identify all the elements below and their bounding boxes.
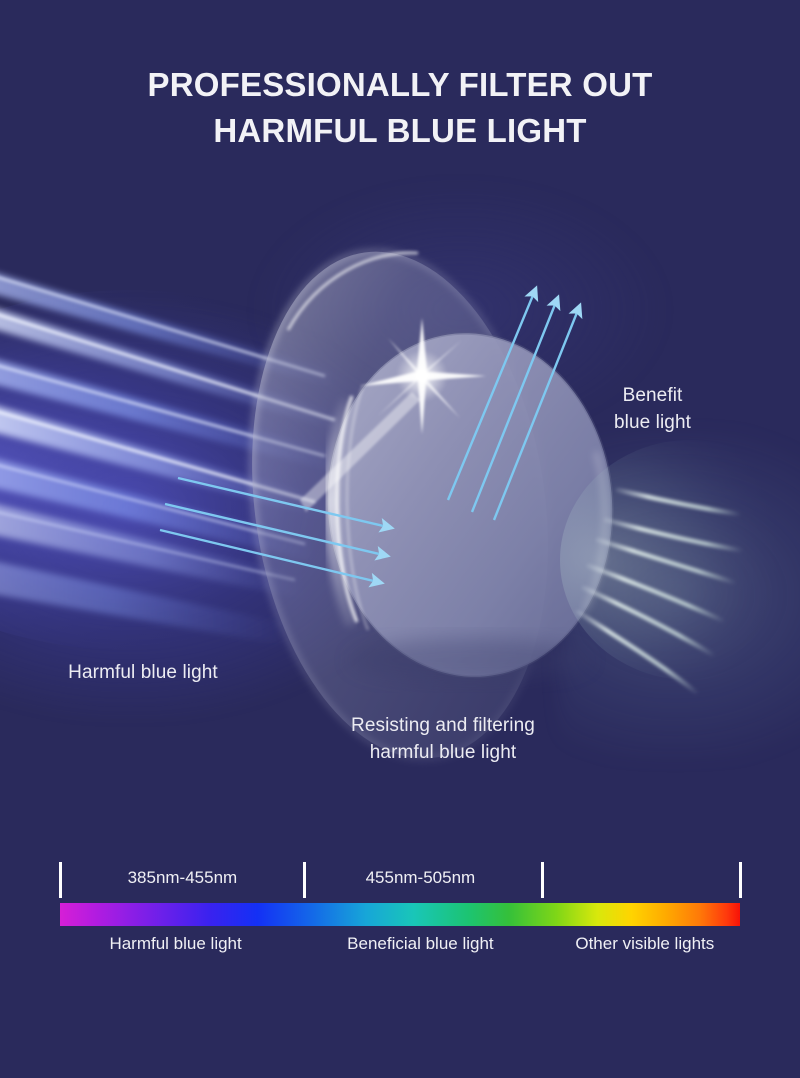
spectrum-category-label-1: Harmful blue light	[109, 934, 241, 954]
spectrum-tick-1	[59, 862, 62, 898]
visible-spectrum-bar	[60, 903, 740, 926]
benefit-blue-light-label: Benefit blue light	[560, 383, 745, 437]
spectrum-legend: 385nm-455nm455nm-505nm Harmful blue ligh…	[60, 862, 740, 972]
resisting-filtering-label: Resisting and filtering harmful blue lig…	[288, 713, 598, 767]
spectrum-range-label-2: 455nm-505nm	[366, 868, 476, 888]
harmful-blue-light-label: Harmful blue light	[18, 660, 268, 687]
spectrum-tick-4	[739, 862, 742, 898]
infographic-canvas: PROFESSIONALLY FILTER OUT HARMFUL BLUE L…	[0, 0, 800, 1078]
spectrum-range-label-1: 385nm-455nm	[128, 868, 238, 888]
spectrum-tick-2	[303, 862, 306, 898]
spectrum-tick-3	[541, 862, 544, 898]
spectrum-category-label-2: Beneficial blue light	[347, 934, 493, 954]
spectrum-category-label-3: Other visible lights	[575, 934, 714, 954]
